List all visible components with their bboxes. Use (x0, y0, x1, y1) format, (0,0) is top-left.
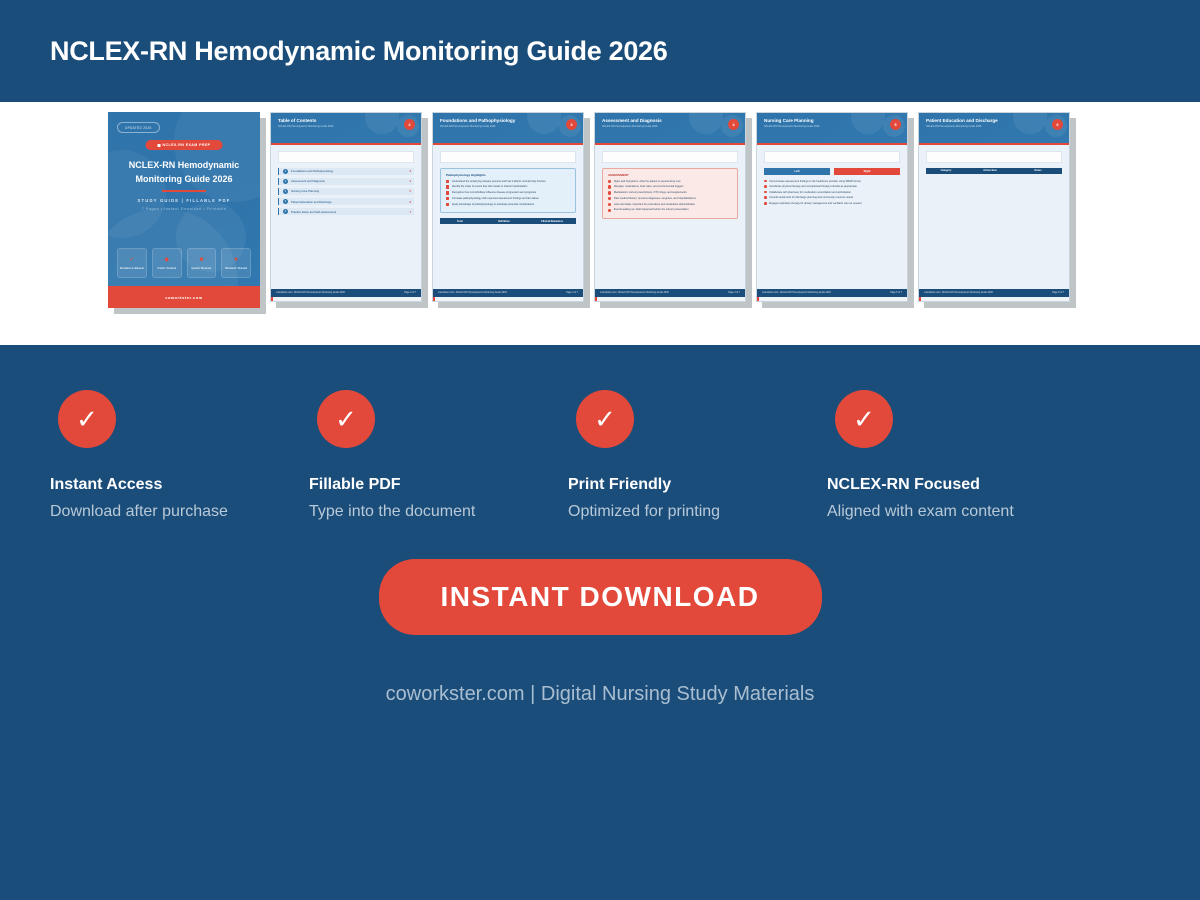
page-header-band: Nursing Care Planning NCLEX-RN Hemodynam… (757, 113, 907, 143)
decorative-circle (1013, 113, 1047, 134)
bullet-icon (764, 180, 767, 183)
toc-page-number: 4 (409, 179, 411, 183)
toc-page-number: 3 (409, 169, 411, 173)
page-number-badge: 3 (566, 119, 577, 130)
page-heading: Table of Contents (278, 118, 414, 123)
list-item: Communicate assessment findings to the h… (764, 180, 900, 183)
bullet-text: Last oral intake: important for procedur… (614, 203, 695, 206)
toc-page-number: 7 (409, 210, 411, 214)
decorative-circle (365, 113, 399, 134)
table-column-header: Action Item (966, 169, 1014, 172)
table-column-header: Category (926, 169, 966, 172)
bullet-text: Collaborate with pharmacy for medication… (769, 191, 851, 194)
toc-number: 4 (283, 199, 288, 204)
table-column-header: Notes (1014, 169, 1062, 172)
toc-label: Assessment and Diagnosis (291, 179, 409, 183)
care-plan-list: Communicate assessment findings to the h… (764, 180, 900, 206)
toc-item: 5 Practice Exam and Self-Assessment 7 (278, 208, 414, 216)
callout-title: Pathophysiology Highlights (446, 173, 570, 177)
callout-bullet: Allergies: medications, food, latex, and… (608, 185, 732, 189)
toc-number: 5 (283, 209, 288, 214)
cover-title-line2: Monitoring Guide 2026 (120, 172, 248, 186)
cover-badge-quick-review: ■ Quick Review (187, 248, 217, 278)
cover-footer: coworkster.com (108, 286, 260, 308)
callout-bullet: Medications: current prescriptions, OTC … (608, 191, 732, 195)
callout-bullet: Last oral intake: important for procedur… (608, 203, 732, 207)
thumbnail-page-2[interactable]: Table of Contents NCLEX-RN Hemodynamic M… (270, 112, 422, 308)
toc-number: 3 (283, 189, 288, 194)
right-column-button: Right (834, 168, 900, 175)
footer-left: coworkster.com | NCLEX-RN Hemodynamic Mo… (600, 292, 669, 294)
feature-description: Optimized for printing (568, 503, 777, 521)
bullet-icon (764, 202, 767, 205)
table-column-header: Definition (480, 220, 528, 223)
page-subheading: NCLEX-RN Hemodynamic Monitoring Guide 20… (278, 125, 414, 128)
callout-bullet: Identify the chain of events that often … (446, 185, 570, 189)
bullet-text: Communicate assessment findings to the h… (769, 180, 860, 183)
page-number-badge: 2 (404, 119, 415, 130)
feature-description: Type into the document (309, 503, 518, 521)
decorative-circle (527, 113, 561, 134)
page-header: NCLEX-RN Hemodynamic Monitoring Guide 20… (0, 0, 1200, 102)
toc-page-number: 5 (409, 189, 411, 193)
bullet-icon (608, 209, 611, 212)
bullet-icon (608, 197, 611, 200)
feature-title: NCLEX-RN Focused (827, 476, 1036, 494)
thumbnail-cover[interactable]: UPDATED 2026 NCLEX-RN EXAM PREP NCLEX-RN… (108, 112, 260, 308)
feature-fillable-pdf: ✓ Fillable PDF Type into the document (259, 390, 518, 521)
page-header-band: Foundations and Pathophysiology NCLEX-RN… (433, 113, 583, 143)
page-footer: coworkster.com | NCLEX-RN Hemodynamic Mo… (271, 289, 421, 297)
cover-badge-label: Quick Review (191, 266, 211, 270)
toc-label: Foundations and Pathophysiology (291, 169, 409, 173)
bullet-text: Past medical history: previous diagnoses… (614, 197, 696, 200)
feature-title: Fillable PDF (309, 476, 518, 494)
instant-download-button[interactable]: INSTANT DOWNLOAD (379, 559, 822, 635)
footer-right: Page 2 of 7 (404, 292, 416, 294)
toc-label: Patient Education and Discharge (291, 200, 409, 204)
bullet-icon (446, 180, 449, 183)
intro-block (764, 151, 900, 163)
cover-title-line1: NCLEX-RN Hemodynamic (120, 158, 248, 172)
page-subheading: NCLEX-RN Hemodynamic Monitoring Guide 20… (926, 125, 1062, 128)
callout-bullet: Apply knowledge of pathophysiology to an… (446, 203, 570, 207)
updated-badge: UPDATED 2026 (117, 122, 160, 133)
footer-left: coworkster.com | NCLEX-RN Hemodynamic Mo… (924, 292, 993, 294)
cover-page: UPDATED 2026 NCLEX-RN EXAM PREP NCLEX-RN… (108, 112, 260, 308)
callout-bullet: Signs and Symptoms: what the patient is … (608, 180, 732, 184)
bullet-text: Understand the underlying disease proces… (452, 180, 546, 183)
bullet-text: Medications: current prescriptions, OTC … (614, 191, 687, 194)
thumbnail-page-3[interactable]: Foundations and Pathophysiology NCLEX-RN… (432, 112, 584, 308)
page-header-band: Table of Contents NCLEX-RN Hemodynamic M… (271, 113, 421, 143)
footer-right: Page 3 of 7 (566, 292, 578, 294)
footer-left: coworkster.com | NCLEX-RN Hemodynamic Mo… (276, 292, 345, 294)
page-body: Pathophysiology Highlights Understand th… (433, 145, 583, 297)
pill-dot-icon (158, 144, 161, 147)
page-number-badge: 5 (890, 119, 901, 130)
toc-number: 2 (283, 179, 288, 184)
page-footer: coworkster.com | NCLEX-RN Hemodynamic Mo… (919, 289, 1069, 297)
bullet-text: Recognize how comorbidities influence di… (452, 191, 536, 194)
footer-left: coworkster.com | NCLEX-RN Hemodynamic Mo… (438, 292, 507, 294)
table-column-header: Term (440, 220, 480, 223)
list-item: Consult social work for discharge planni… (764, 196, 900, 199)
toc-label: Practice Exam and Self-Assessment (291, 210, 409, 214)
compare-buttons: Left Right (764, 168, 900, 175)
bullet-icon (608, 191, 611, 194)
exam-prep-pill: NCLEX-RN EXAM PREP (146, 140, 223, 150)
check-icon: ✓ (576, 390, 634, 448)
bullet-icon (764, 196, 767, 199)
page-number-badge: 4 (728, 119, 739, 130)
intro-block (602, 151, 738, 163)
cover-badge-label: Evidence Based (120, 266, 144, 270)
bullet-icon (608, 203, 611, 206)
callout-bullet: Recognize how comorbidities influence di… (446, 191, 570, 195)
callout-bullet: Past medical history: previous diagnoses… (608, 197, 732, 201)
site-footer-line: coworkster.com | Digital Nursing Study M… (0, 683, 1200, 706)
footer-right: Page 4 of 7 (728, 292, 740, 294)
page-heading: Patient Education and Discharge (926, 118, 1062, 123)
intro-block (440, 151, 576, 163)
table-header-row: Category Action Item Notes (926, 168, 1062, 174)
page-header-band: Assessment and Diagnosis NCLEX-RN Hemody… (595, 113, 745, 143)
toc-item: 4 Patient Education and Discharge 6 (278, 198, 414, 206)
highlights-callout: Pathophysiology Highlights Understand th… (440, 168, 576, 214)
feature-title: Instant Access (50, 476, 259, 494)
footer-left: coworkster.com | NCLEX-RN Hemodynamic Mo… (762, 292, 831, 294)
feature-instant-access: ✓ Instant Access Download after purchase (0, 390, 259, 521)
list-item: Coordinate physical therapy and occupati… (764, 185, 900, 188)
bullet-text: Apply knowledge of pathophysiology to an… (452, 203, 534, 206)
cover-badge-color-coded: ◆ Color Coded (152, 248, 182, 278)
page-subheading: NCLEX-RN Hemodynamic Monitoring Guide 20… (440, 125, 576, 128)
bullet-text: Signs and Symptoms: what the patient is … (614, 180, 681, 183)
page-number-badge: 6 (1052, 119, 1063, 130)
cover-badge-label: Color Coded (157, 266, 175, 270)
callout-bullet: Correlate pathophysiology with expected … (446, 197, 570, 201)
cover-badge-row: ✓ Evidence Based ◆ Color Coded ■ Quick R… (117, 248, 251, 278)
table-column-header: Clinical Relevance (528, 220, 576, 223)
bullet-text: Engage respiratory therapy for airway ma… (769, 202, 861, 205)
bullet-icon (446, 191, 449, 194)
assessment-callout: ASSESSMENT Signs and Symptoms: what the … (602, 168, 738, 220)
check-icon: ✓ (317, 390, 375, 448)
cover-badge-student-tested: ★ Student Tested (221, 248, 251, 278)
callout-title: ASSESSMENT (608, 173, 732, 177)
page-subheading: NCLEX-RN Hemodynamic Monitoring Guide 20… (602, 125, 738, 128)
page-heading: Assessment and Diagnosis (602, 118, 738, 123)
exam-prep-label: NCLEX-RN EXAM PREP (163, 143, 211, 147)
bullet-text: Coordinate physical therapy and occupati… (769, 185, 857, 188)
footer-right: Page 5 of 7 (890, 292, 902, 294)
bullet-icon (764, 185, 767, 188)
check-icon: ✓ (129, 257, 134, 263)
toc-number: 1 (283, 169, 288, 174)
page-heading: Nursing Care Planning (764, 118, 900, 123)
feature-nclex-focused: ✓ NCLEX-RN Focused Aligned with exam con… (777, 390, 1036, 521)
decorative-circle (689, 113, 723, 134)
bullet-icon (446, 203, 449, 206)
star-icon: ★ (233, 257, 238, 263)
clock-icon: ■ (200, 257, 204, 263)
toc-item: 2 Assessment and Diagnosis 4 (278, 178, 414, 186)
toc-item: 1 Foundations and Pathophysiology 3 (278, 168, 414, 176)
cover-badge-evidence-based: ✓ Evidence Based (117, 248, 147, 278)
page-body: Category Action Item Notes coworkster.co… (919, 145, 1069, 297)
check-icon: ✓ (835, 390, 893, 448)
page-title: NCLEX-RN Hemodynamic Monitoring Guide 20… (50, 36, 667, 67)
cover-subtitle: STUDY GUIDE | FILLABLE PDF (108, 198, 260, 203)
bullet-text: Allergies: medications, food, latex, and… (614, 185, 684, 188)
bullet-text: Consult social work for discharge planni… (769, 196, 853, 199)
intro-block (278, 151, 414, 163)
cover-badge-label: Student Tested (225, 266, 247, 270)
cta-section: INSTANT DOWNLOAD (0, 559, 1200, 635)
toc-page-number: 6 (409, 200, 411, 204)
page-heading: Foundations and Pathophysiology (440, 118, 576, 123)
features-row: ✓ Instant Access Download after purchase… (0, 345, 1200, 521)
thumbnail-page-5[interactable]: Nursing Care Planning NCLEX-RN Hemodynam… (756, 112, 908, 308)
check-icon: ✓ (58, 390, 116, 448)
bullet-icon (446, 185, 449, 188)
thumbnail-page-4[interactable]: Assessment and Diagnosis NCLEX-RN Hemody… (594, 112, 746, 308)
left-column-button: Left (764, 168, 830, 175)
bullet-text: Identify the chain of events that often … (452, 185, 527, 188)
footer-right: Page 6 of 7 (1052, 292, 1064, 294)
toc-item: 3 Nursing Care Planning 5 (278, 188, 414, 196)
callout-bullet: Events leading up: what happened before … (608, 208, 732, 212)
feature-title: Print Friendly (568, 476, 777, 494)
bullet-icon (764, 191, 767, 194)
page-body: ASSESSMENT Signs and Symptoms: what the … (595, 145, 745, 297)
bullet-icon (608, 185, 611, 188)
feature-description: Aligned with exam content (827, 503, 1036, 521)
bullet-text: Events leading up: what happened before … (614, 208, 689, 211)
intro-block (926, 151, 1062, 163)
feature-print-friendly: ✓ Print Friendly Optimized for printing (518, 390, 777, 521)
page-subheading: NCLEX-RN Hemodynamic Monitoring Guide 20… (764, 125, 900, 128)
page-body: Left Right Communicate assessment findin… (757, 145, 907, 297)
bullet-icon (446, 197, 449, 200)
bullet-icon (608, 180, 611, 183)
page-footer: coworkster.com | NCLEX-RN Hemodynamic Mo… (433, 289, 583, 297)
list-item: Collaborate with pharmacy for medication… (764, 191, 900, 194)
page-footer: coworkster.com | NCLEX-RN Hemodynamic Mo… (595, 289, 745, 297)
palette-icon: ◆ (164, 257, 169, 263)
thumbnail-strip: UPDATED 2026 NCLEX-RN EXAM PREP NCLEX-RN… (0, 102, 1200, 345)
cover-divider (162, 190, 206, 192)
list-item: Engage respiratory therapy for airway ma… (764, 202, 900, 205)
cover-title: NCLEX-RN Hemodynamic Monitoring Guide 20… (108, 158, 260, 186)
thumbnail-page-6[interactable]: Patient Education and Discharge NCLEX-RN… (918, 112, 1070, 308)
page-header-band: Patient Education and Discharge NCLEX-RN… (919, 113, 1069, 143)
toc-label: Nursing Care Planning (291, 189, 409, 193)
bullet-text: Correlate pathophysiology with expected … (452, 197, 539, 200)
page-footer: coworkster.com | NCLEX-RN Hemodynamic Mo… (757, 289, 907, 297)
decorative-circle (851, 113, 885, 134)
page-body: 1 Foundations and Pathophysiology 3 2 As… (271, 145, 421, 297)
cover-meta: 7 Pages • Instant Download • Printable (108, 207, 260, 211)
feature-description: Download after purchase (50, 503, 259, 521)
decorative-circle (174, 112, 260, 202)
callout-bullet: Understand the underlying disease proces… (446, 180, 570, 184)
table-header-row: Term Definition Clinical Relevance (440, 218, 576, 224)
